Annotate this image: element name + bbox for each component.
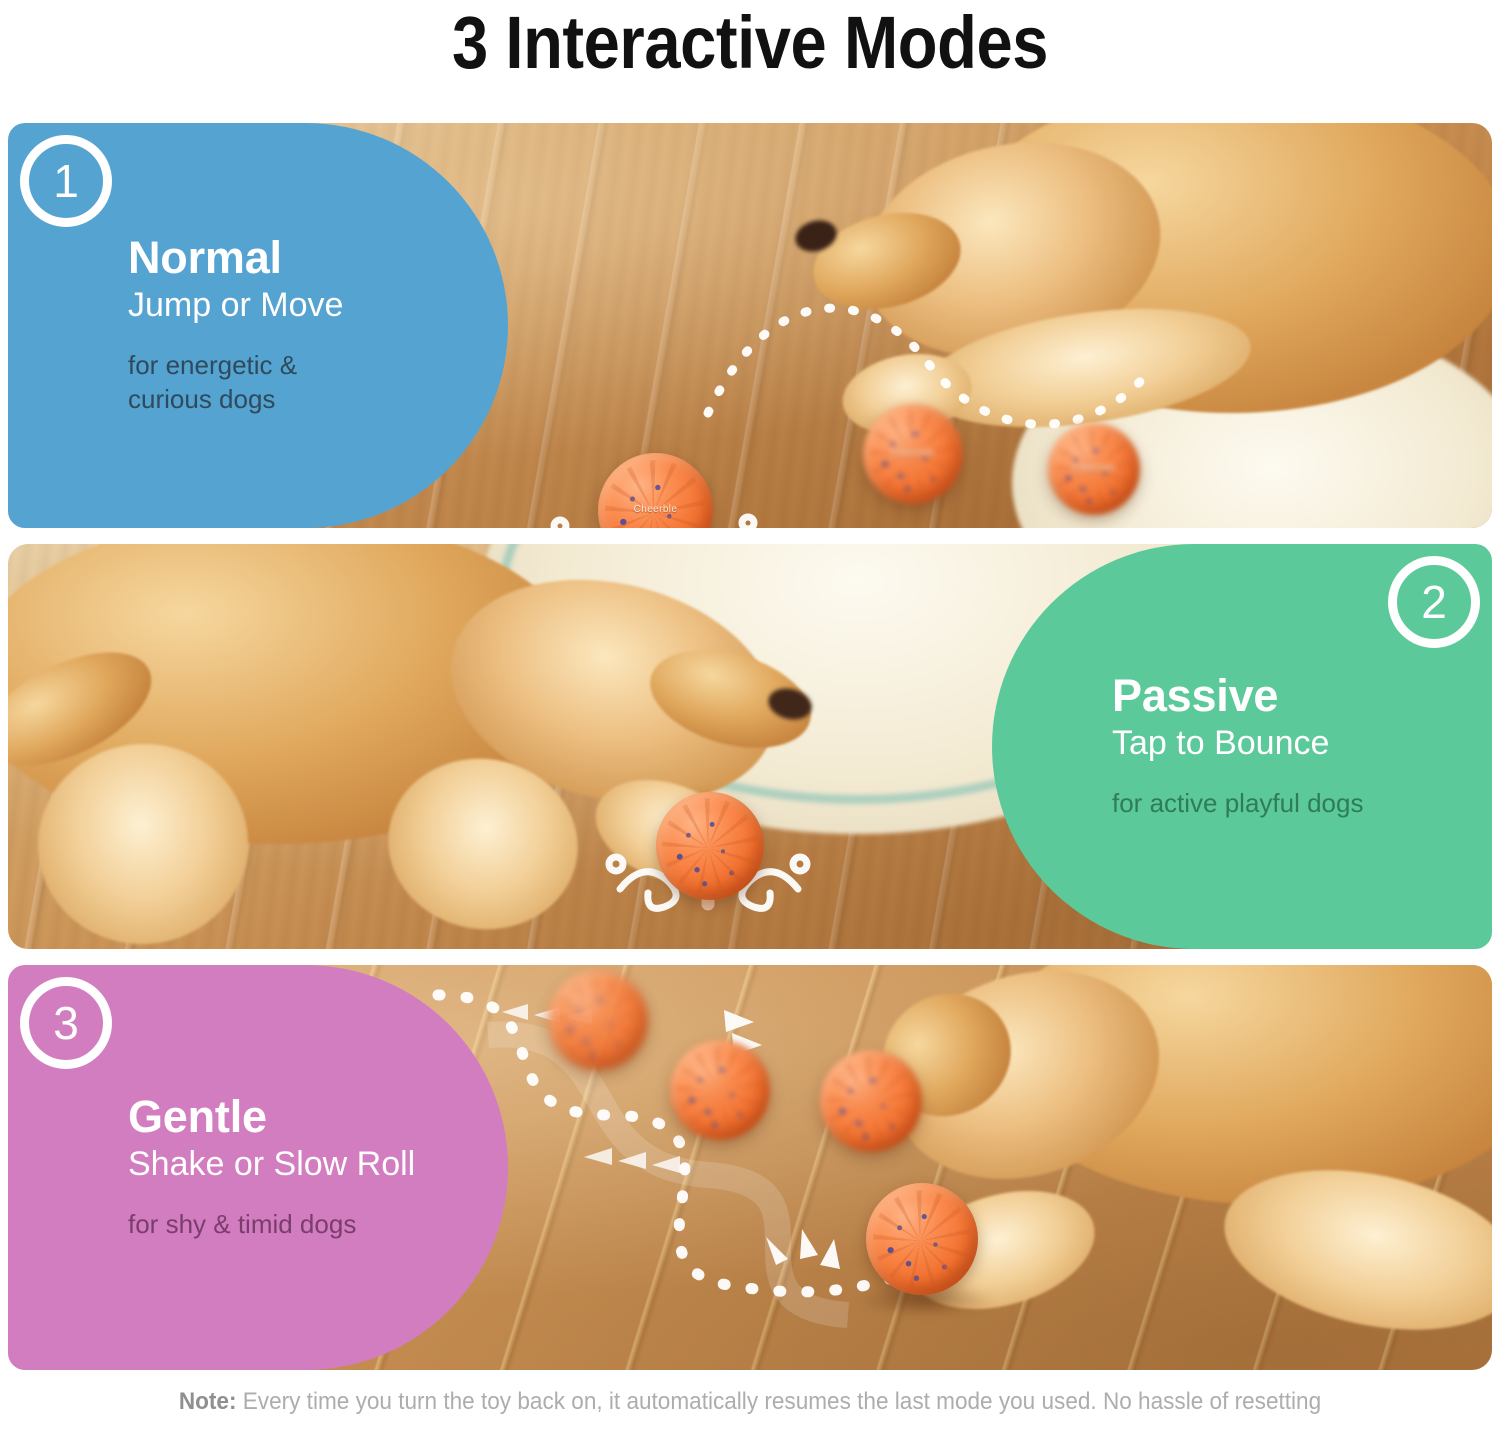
mode-3-number: 3 xyxy=(53,996,79,1050)
mode-panel-1: Cheerble Cheerble Cheerble Normal Jump o… xyxy=(8,123,1492,528)
mode-1-action: Jump or Move xyxy=(128,284,343,327)
ball-brand-label: Cheerble xyxy=(598,504,713,515)
cheerble-ball-roll-2: Cheerble xyxy=(670,1040,770,1140)
mode-3-title: Gentle xyxy=(128,1093,267,1140)
mode-1-title: Normal xyxy=(128,234,282,281)
mode-2-action: Tap to Bounce xyxy=(1112,722,1329,765)
ball-brand-label: Cheerble xyxy=(863,448,963,459)
mode-3-number-badge: 3 xyxy=(20,977,112,1069)
mode-3-description: for shy & timid dogs xyxy=(128,1207,356,1241)
page-title: 3 Interactive Modes xyxy=(90,0,1410,80)
mode-2-description: for active playful dogs xyxy=(1112,786,1363,820)
mode-1-description-line-2: curious dogs xyxy=(128,382,297,416)
mode-1-number-badge: 1 xyxy=(20,135,112,227)
footer-note: Note: Every time you turn the toy back o… xyxy=(45,1388,1455,1416)
cheerble-ball-1: Cheerble xyxy=(598,453,713,528)
modes-list: Cheerble Cheerble Cheerble Normal Jump o… xyxy=(8,123,1492,1386)
mode-3-action: Shake or Slow Roll xyxy=(128,1143,415,1186)
mode-1-number: 1 xyxy=(53,154,79,208)
cheerble-ball-3: Cheerble xyxy=(1048,423,1140,515)
cheerble-ball-roll-3: Cheerble xyxy=(820,1050,922,1152)
mode-2-title: Passive xyxy=(1112,672,1278,719)
mode-1-description: for energetic & curious dogs xyxy=(128,348,297,417)
cheerble-ball-roll-1: Cheerble xyxy=(548,970,648,1070)
ball-brand-label: Cheerble xyxy=(1048,463,1140,474)
mode-2-number-badge: 2 xyxy=(1388,556,1480,648)
cheerble-ball-2: Cheerble xyxy=(863,404,963,504)
mode-1-description-line-1: for energetic & xyxy=(128,348,297,382)
footer-note-label: Note: xyxy=(179,1388,237,1415)
mode-panel-2: Cheerble Passive Tap to Bounce for activ… xyxy=(8,544,1492,949)
mode-panel-3: Cheerble Cheerble Cheerble Cheerble Gent… xyxy=(8,965,1492,1370)
mode-2-number: 2 xyxy=(1421,575,1447,629)
cheerble-ball-bouncing: Cheerble xyxy=(656,792,764,900)
cheerble-ball-roll-4: Cheerble xyxy=(866,1183,978,1295)
footer-note-text: Every time you turn the toy back on, it … xyxy=(236,1388,1321,1415)
